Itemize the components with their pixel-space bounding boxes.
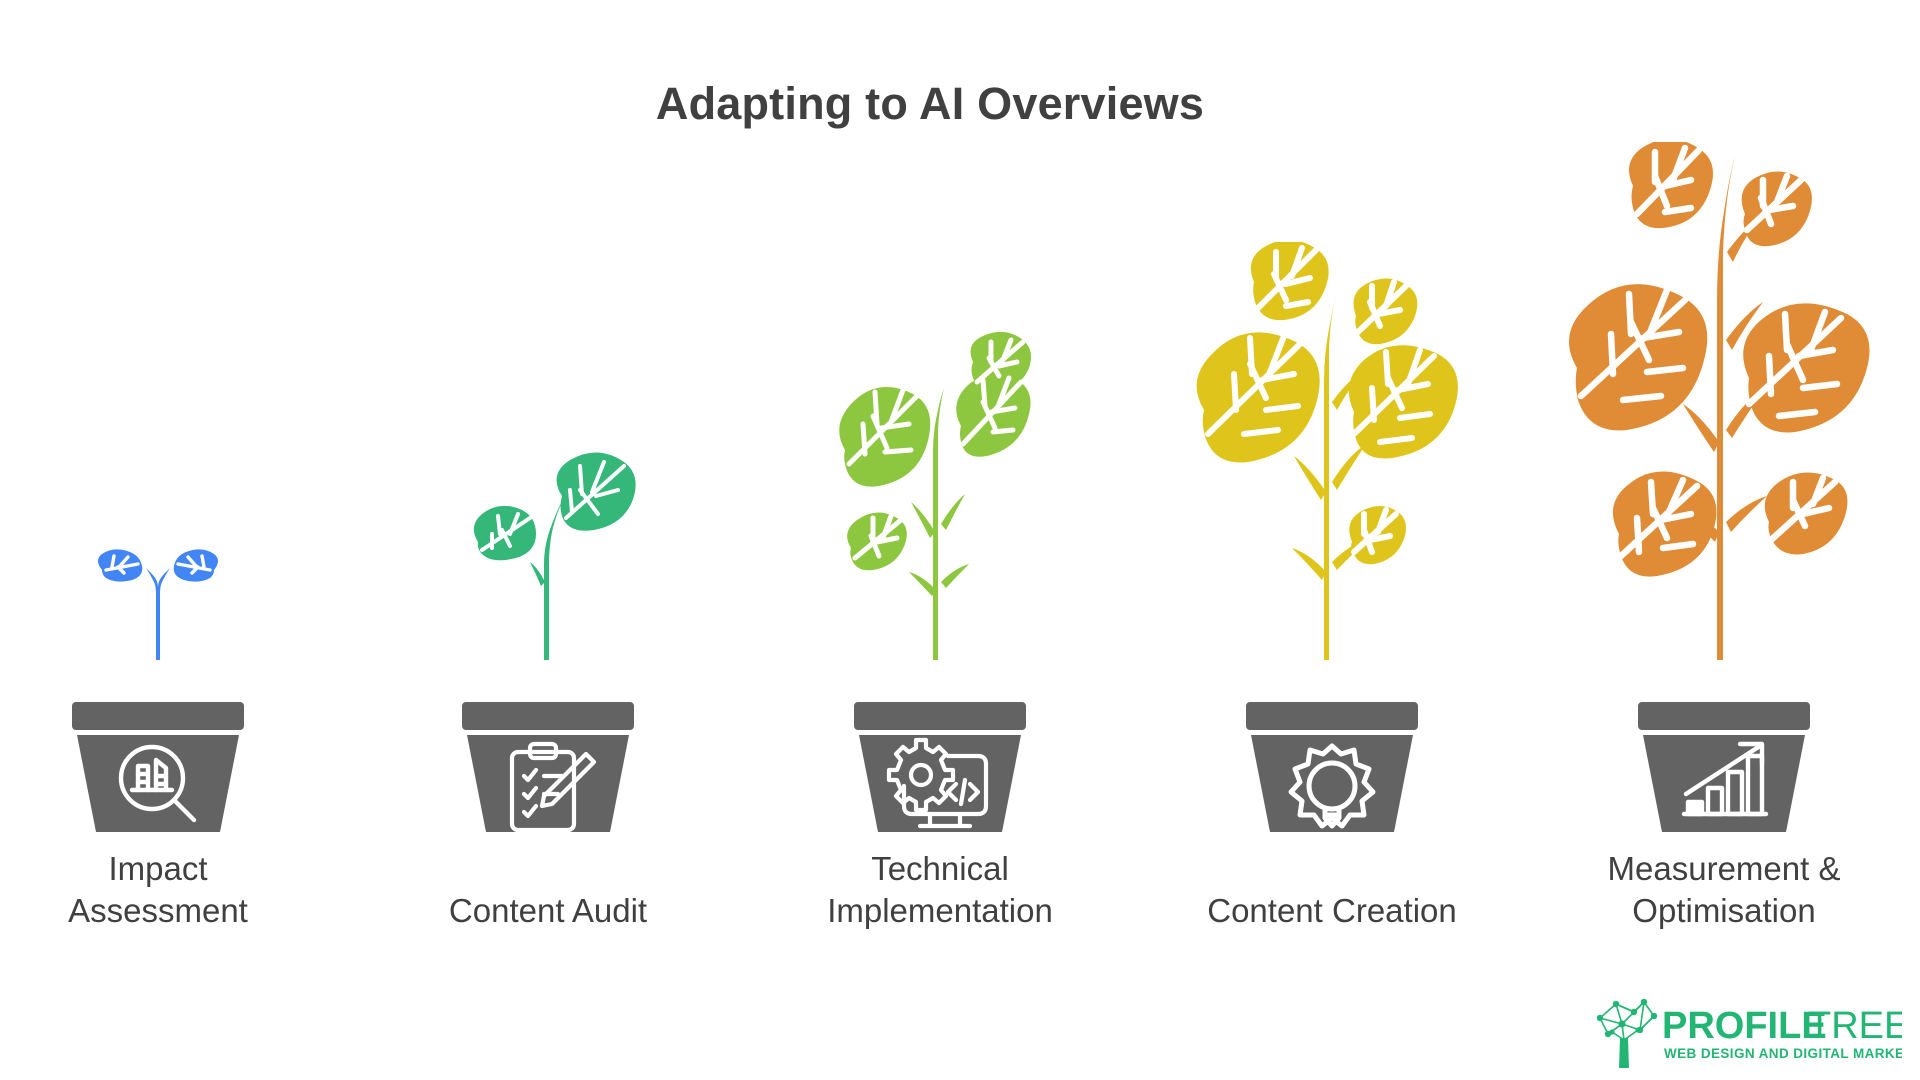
plant-graphic bbox=[748, 102, 1132, 662]
logo-tagline: WEB DESIGN AND DIGITAL MARKETING bbox=[1664, 1046, 1902, 1061]
plant-pot bbox=[852, 702, 1028, 832]
plant-graphic bbox=[1532, 102, 1916, 662]
stage-label: Measurement & Optimisation bbox=[1532, 848, 1916, 932]
young-plant-icon bbox=[815, 332, 1065, 662]
stage-label: Content Audit bbox=[356, 890, 740, 932]
stage-impact-assessment[interactable]: Impact Assessment bbox=[0, 0, 350, 1080]
plant-graphic bbox=[1140, 102, 1524, 662]
stage-label: Impact Assessment bbox=[0, 848, 350, 932]
stage-list: Impact Assessment bbox=[0, 0, 1920, 1080]
plant-graphic bbox=[0, 102, 350, 662]
pot-graphic bbox=[1532, 662, 1916, 832]
stage-technical-implementation[interactable]: Technical Implementation bbox=[748, 0, 1132, 1080]
mature-plant-icon bbox=[1182, 242, 1482, 662]
pot-graphic bbox=[0, 662, 350, 832]
plant-graphic bbox=[356, 102, 740, 662]
sprout-plant-icon bbox=[68, 532, 248, 662]
plant-pot bbox=[460, 702, 636, 832]
stage-label: Technical Implementation bbox=[748, 848, 1132, 932]
pot-graphic bbox=[356, 662, 740, 832]
stage-content-creation[interactable]: Content Creation bbox=[1140, 0, 1524, 1080]
logo-name-bold: PROFILE bbox=[1662, 1005, 1827, 1047]
plant-pot bbox=[1636, 702, 1812, 832]
profiletree-logo[interactable]: PROFILE TREE WEB DESIGN AND DIGITAL MARK… bbox=[1582, 990, 1902, 1072]
plant-pot bbox=[70, 702, 246, 832]
stage-content-audit[interactable]: Content Audit bbox=[356, 0, 740, 1080]
stage-measurement-optimisation[interactable]: Measurement & Optimisation bbox=[1532, 0, 1916, 1080]
plant-pot bbox=[1244, 702, 1420, 832]
pot-graphic bbox=[748, 662, 1132, 832]
tree-network-icon bbox=[1597, 999, 1657, 1068]
pot-graphic bbox=[1140, 662, 1524, 832]
logo-name-light: TREE bbox=[1808, 1005, 1902, 1047]
full-plant-icon bbox=[1559, 142, 1889, 662]
stage-label: Content Creation bbox=[1140, 890, 1524, 932]
infographic-canvas: Adapting to AI Overviews bbox=[0, 0, 1920, 1080]
seedling-plant-icon bbox=[448, 452, 648, 662]
